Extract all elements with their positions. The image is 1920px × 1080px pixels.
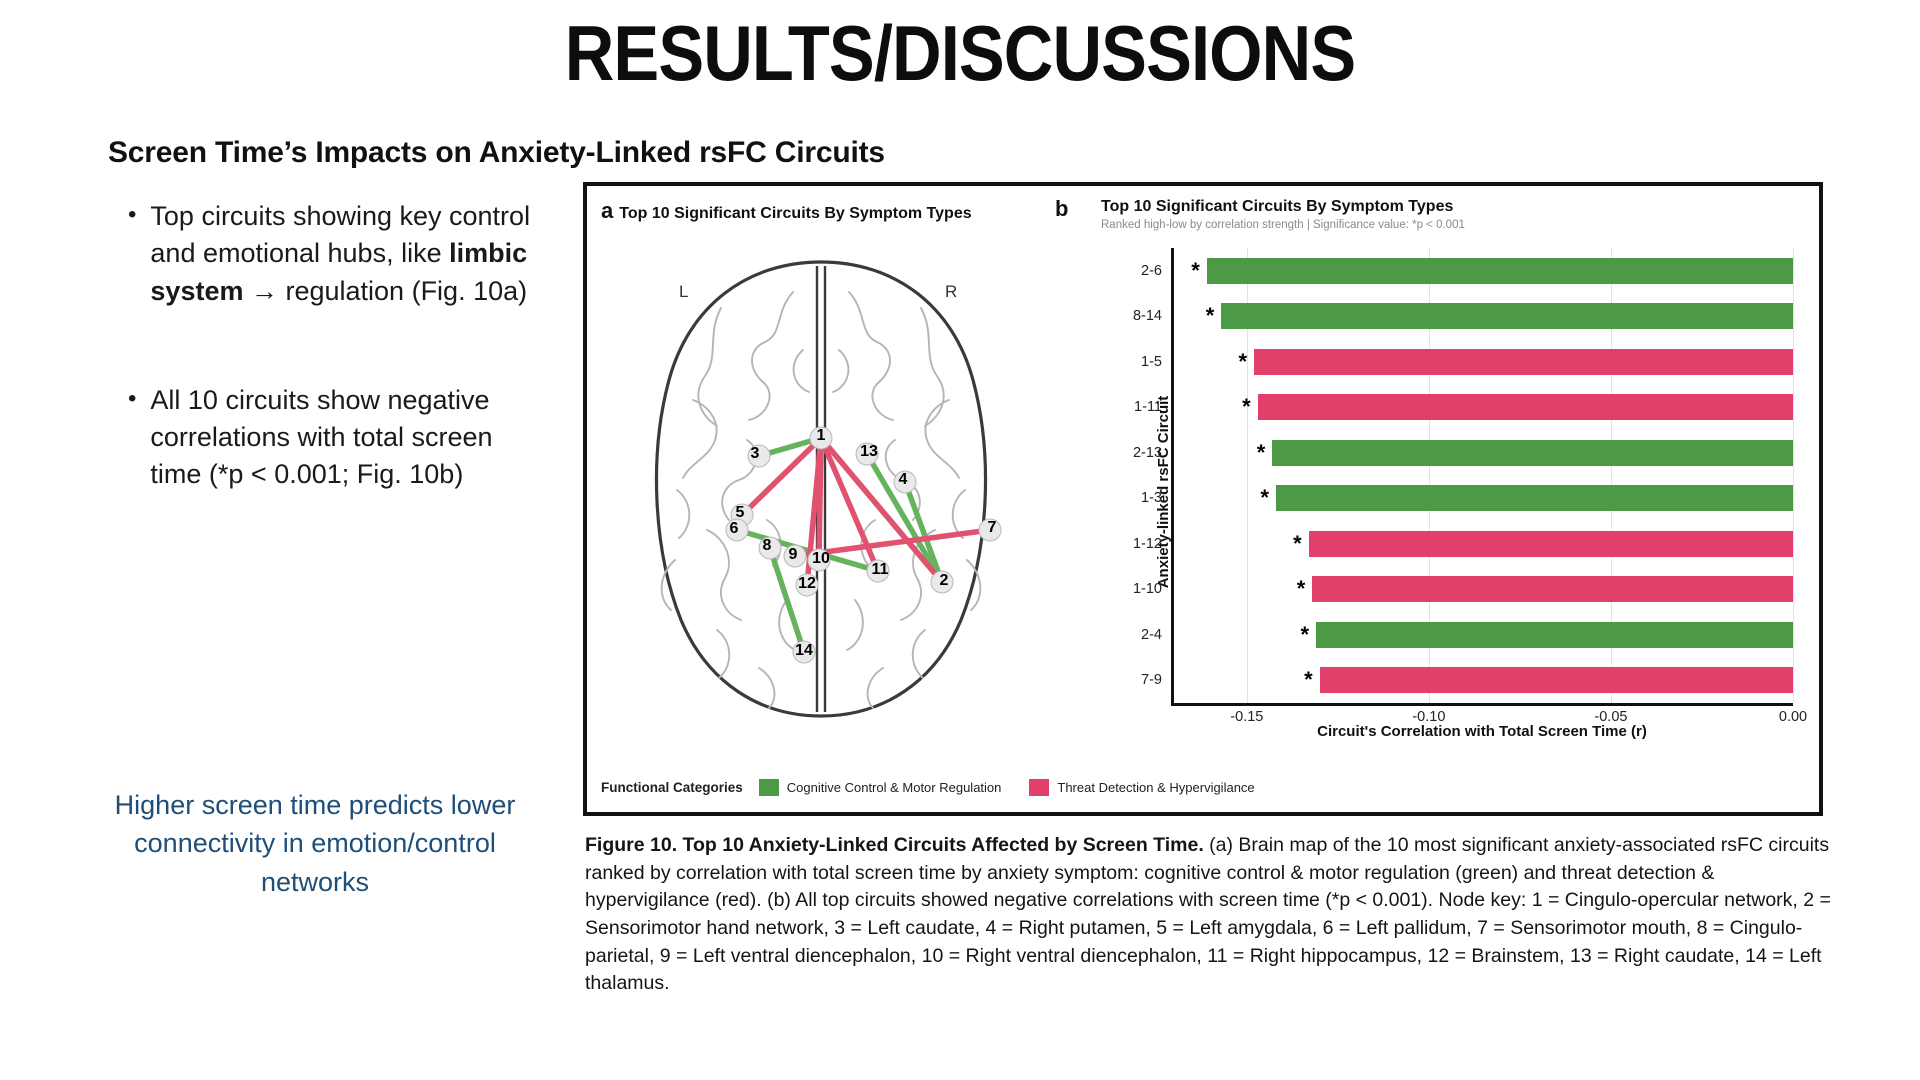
panel-a: aTop 10 Significant Circuits By Symptom … (587, 186, 1045, 812)
chart-y-tick-label: 1-5 (1141, 354, 1174, 370)
chart-bar (1258, 394, 1793, 420)
chart-y-tick-label: 8-14 (1133, 308, 1174, 324)
chart-y-tick-label: 2-4 (1141, 627, 1174, 643)
chart-y-tick-label: 2-6 (1141, 263, 1174, 279)
panel-a-letter: a (601, 198, 613, 223)
caption-body: (a) Brain map of the 10 most significant… (585, 834, 1831, 994)
significance-marker: * (1206, 305, 1222, 327)
significance-marker: * (1260, 487, 1276, 509)
brain-node-label: 7 (988, 519, 997, 537)
legend-item-green: Cognitive Control & Motor Regulation (759, 779, 1002, 796)
chart-plot-area: -0.15-0.10-0.050.00*2-6*8-14*1-5*1-11*2-… (1171, 248, 1793, 706)
panel-b: b Top 10 Significant Circuits By Symptom… (1045, 186, 1819, 812)
panel-b-subtitle: Ranked high-low by correlation strength … (1101, 219, 1465, 231)
caption-lead: Figure 10. Top 10 Anxiety-Linked Circuit… (585, 834, 1204, 856)
significance-marker: * (1304, 669, 1320, 691)
brain-outline-svg (597, 230, 1045, 730)
chart-y-tick-label: 1-3 (1141, 490, 1174, 506)
brain-node-label: 11 (872, 561, 889, 579)
chart-gridline (1793, 248, 1794, 703)
chart-bar (1207, 258, 1793, 284)
chart-y-tick-label: 7-9 (1141, 672, 1174, 688)
brain-node-label: 8 (763, 537, 772, 555)
significance-marker: * (1293, 533, 1309, 555)
panel-b-letter: b (1055, 196, 1068, 222)
brain-node-label: 2 (940, 572, 949, 590)
chart-x-axis-label: Circuit's Correlation with Total Screen … (1171, 723, 1793, 740)
section-heading: Screen Time’s Impacts on Anxiety-Linked … (108, 136, 885, 170)
significance-marker: * (1191, 260, 1207, 282)
panel-b-header: b Top 10 Significant Circuits By Symptom… (1055, 198, 1465, 231)
significance-marker: * (1297, 578, 1313, 600)
chart-bar (1309, 531, 1793, 557)
list-item: • Top circuits showing key control and e… (128, 198, 548, 310)
chart-y-tick-label: 1-11 (1134, 399, 1174, 415)
chart-y-tick-label: 1-10 (1133, 581, 1174, 597)
chart-bar (1316, 622, 1793, 648)
bullet-list: • Top circuits showing key control and e… (128, 198, 548, 504)
bullet-dot-icon: • (128, 382, 136, 494)
bullet-text: All 10 circuits show negative correlatio… (150, 382, 548, 494)
significance-marker: * (1257, 442, 1273, 464)
bullet-dot-icon: • (128, 198, 136, 310)
chart-y-tick-label: 1-12 (1133, 536, 1174, 552)
brain-node-label: 3 (751, 445, 760, 463)
bullet-text-post: → regulation (Fig. 10a) (243, 276, 527, 306)
significance-marker: * (1300, 624, 1316, 646)
panel-a-title-text: Top 10 Significant Circuits By Symptom T… (619, 205, 971, 222)
brain-node-label: 4 (899, 471, 908, 489)
significance-marker: * (1239, 351, 1255, 373)
legend-label-green: Cognitive Control & Motor Regulation (787, 780, 1002, 795)
chart-bar (1254, 349, 1793, 375)
brain-node-label: 10 (812, 550, 830, 568)
chart-y-tick-label: 2-13 (1133, 445, 1174, 461)
legend-swatch-green (759, 779, 779, 796)
brain-node-label: 6 (730, 520, 739, 538)
chart-bar (1312, 576, 1793, 602)
significance-marker: * (1242, 396, 1258, 418)
bullet-spacer (128, 320, 548, 382)
bar-chart: Anxiety-linked rsFC Circuit -0.15-0.10-0… (1171, 248, 1793, 736)
figure-panel: aTop 10 Significant Circuits By Symptom … (583, 182, 1823, 816)
brain-node-label: 1 (817, 427, 826, 445)
legend-title: Functional Categories (601, 780, 743, 795)
chart-bar (1276, 485, 1793, 511)
chart-bar (1320, 667, 1793, 693)
brain-node-label: 9 (789, 546, 798, 564)
list-item: • All 10 circuits show negative correlat… (128, 382, 548, 494)
figure-caption: Figure 10. Top 10 Anxiety-Linked Circuit… (585, 832, 1835, 998)
brain-map: L R (597, 230, 1045, 730)
bullet-text: Top circuits showing key control and emo… (150, 198, 548, 310)
brain-node-label: 12 (798, 575, 816, 593)
slide-root: RESULTS/DISCUSSIONS Screen Time’s Impact… (0, 0, 1920, 1080)
panel-b-title: Top 10 Significant Circuits By Symptom T… (1101, 198, 1465, 216)
brain-node-label: 14 (795, 642, 813, 660)
chart-bar (1221, 303, 1793, 329)
brain-node-label: 13 (860, 443, 878, 461)
page-title: RESULTS/DISCUSSIONS (115, 8, 1805, 99)
takeaway-text: Higher screen time predicts lower connec… (100, 786, 530, 901)
chart-bar (1272, 440, 1793, 466)
panel-a-title: aTop 10 Significant Circuits By Symptom … (601, 198, 972, 224)
